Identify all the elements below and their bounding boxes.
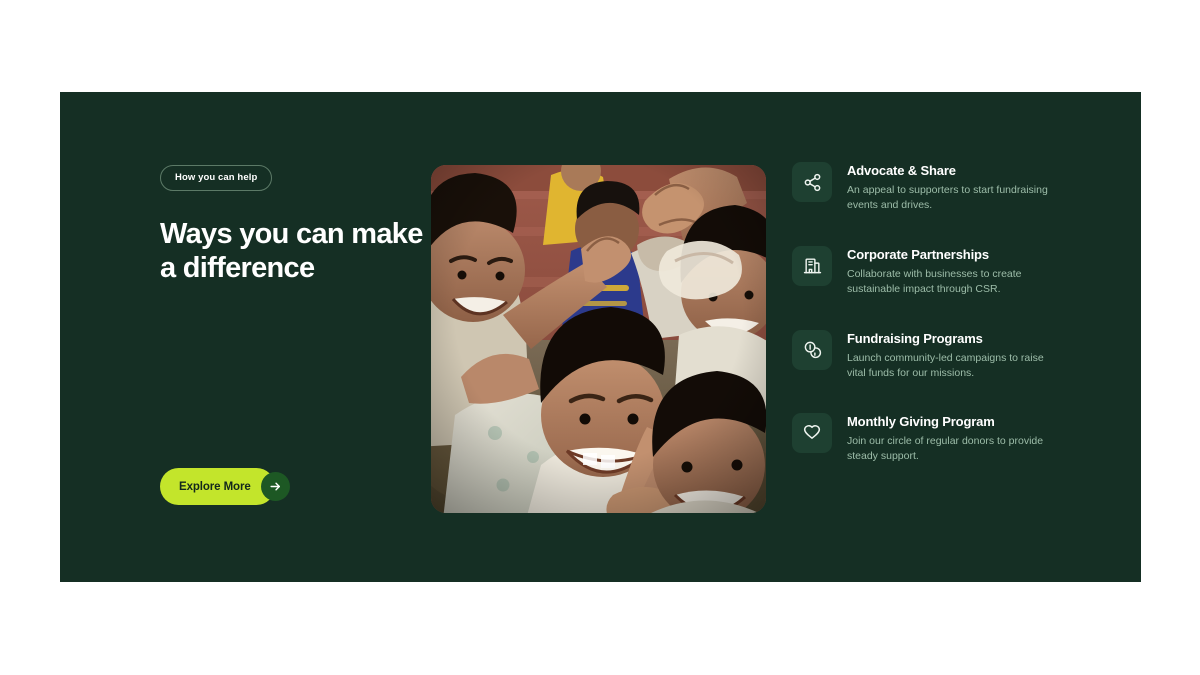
feature-title: Corporate Partnerships bbox=[847, 247, 1052, 262]
explore-more-label: Explore More bbox=[179, 481, 251, 493]
feature-text: Fundraising Programs Launch community-le… bbox=[847, 330, 1052, 381]
feature-list: Advocate & Share An appeal to supporters… bbox=[792, 162, 1092, 464]
arrow-right-icon bbox=[261, 472, 290, 501]
screenshot-root: How you can help Ways you can make a dif… bbox=[0, 0, 1200, 675]
feature-description: Join our circle of regular donors to pro… bbox=[847, 434, 1052, 464]
feature-title: Monthly Giving Program bbox=[847, 414, 1052, 429]
feature-text: Advocate & Share An appeal to supporters… bbox=[847, 162, 1052, 213]
feature-text: Monthly Giving Program Join our circle o… bbox=[847, 413, 1052, 464]
feature-description: An appeal to supporters to start fundrai… bbox=[847, 183, 1052, 213]
feature-item-monthly-giving-program[interactable]: Monthly Giving Program Join our circle o… bbox=[792, 413, 1092, 464]
hero-panel: How you can help Ways you can make a dif… bbox=[60, 92, 1141, 582]
hero-left-column: How you can help Ways you can make a dif… bbox=[160, 165, 440, 286]
feature-item-fundraising-programs[interactable]: Fundraising Programs Launch community-le… bbox=[792, 330, 1092, 381]
explore-more-button[interactable]: Explore More bbox=[160, 468, 275, 505]
feature-text: Corporate Partnerships Collaborate with … bbox=[847, 246, 1052, 297]
hero-photo bbox=[431, 165, 766, 513]
page-title: Ways you can make a difference bbox=[160, 218, 440, 286]
feature-description: Launch community-led campaigns to raise … bbox=[847, 351, 1052, 381]
feature-description: Collaborate with businesses to create su… bbox=[847, 267, 1052, 297]
building-icon bbox=[792, 246, 832, 286]
feature-item-corporate-partnerships[interactable]: Corporate Partnerships Collaborate with … bbox=[792, 246, 1092, 297]
feature-title: Advocate & Share bbox=[847, 163, 1052, 178]
eyebrow-badge: How you can help bbox=[160, 165, 272, 191]
share-nodes-icon bbox=[792, 162, 832, 202]
feature-title: Fundraising Programs bbox=[847, 331, 1052, 346]
heart-icon bbox=[792, 413, 832, 453]
coins-icon bbox=[792, 330, 832, 370]
feature-item-advocate-share[interactable]: Advocate & Share An appeal to supporters… bbox=[792, 162, 1092, 213]
